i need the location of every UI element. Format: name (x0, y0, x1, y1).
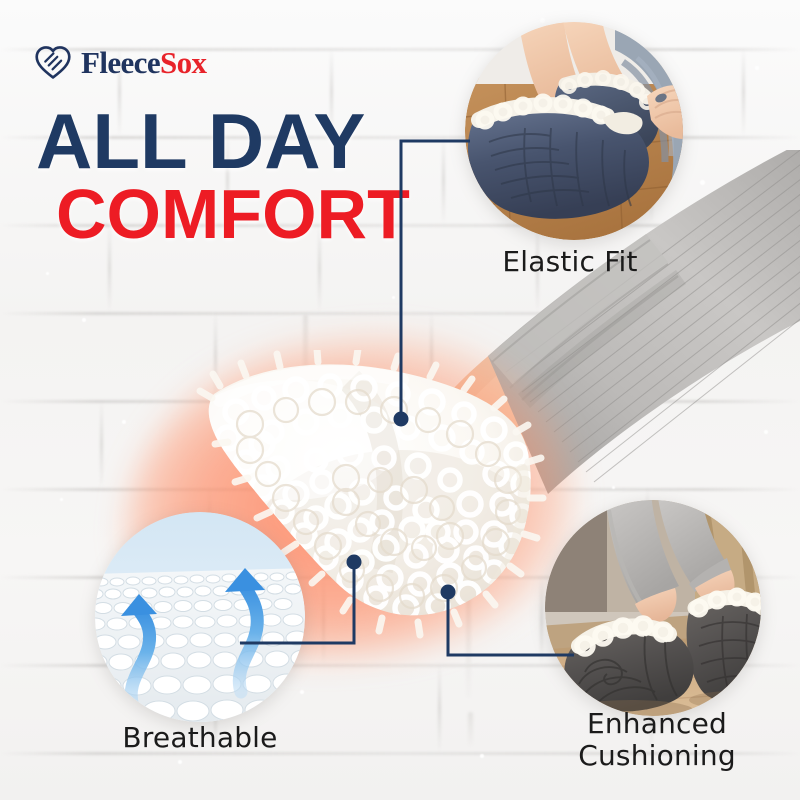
brand-name: FleeceSox (81, 47, 206, 78)
heart-with-stitches-icon (34, 44, 72, 80)
feature-photo-breathable (95, 512, 305, 722)
feature-photo-elastic-fit (465, 22, 683, 240)
feature-label-breathable: Breathable (45, 722, 355, 754)
feature-label-enhanced-cushioning: Enhanced Cushioning (512, 708, 800, 772)
feature-label-elastic-fit: Elastic Fit (420, 246, 720, 278)
brand-name-fleece: Fleece (81, 45, 160, 80)
headline-line-2: COMFORT (56, 182, 410, 246)
brand-logo: FleeceSox (34, 44, 206, 80)
brand-name-sox: Sox (160, 45, 206, 80)
headline-line-1: ALL DAY (36, 106, 410, 178)
headline: ALL DAY COMFORT (36, 106, 410, 246)
feature-photo-enhanced-cushioning (545, 500, 761, 716)
product-ad-canvas: FleeceSox ALL DAY COMFORT (0, 0, 800, 800)
